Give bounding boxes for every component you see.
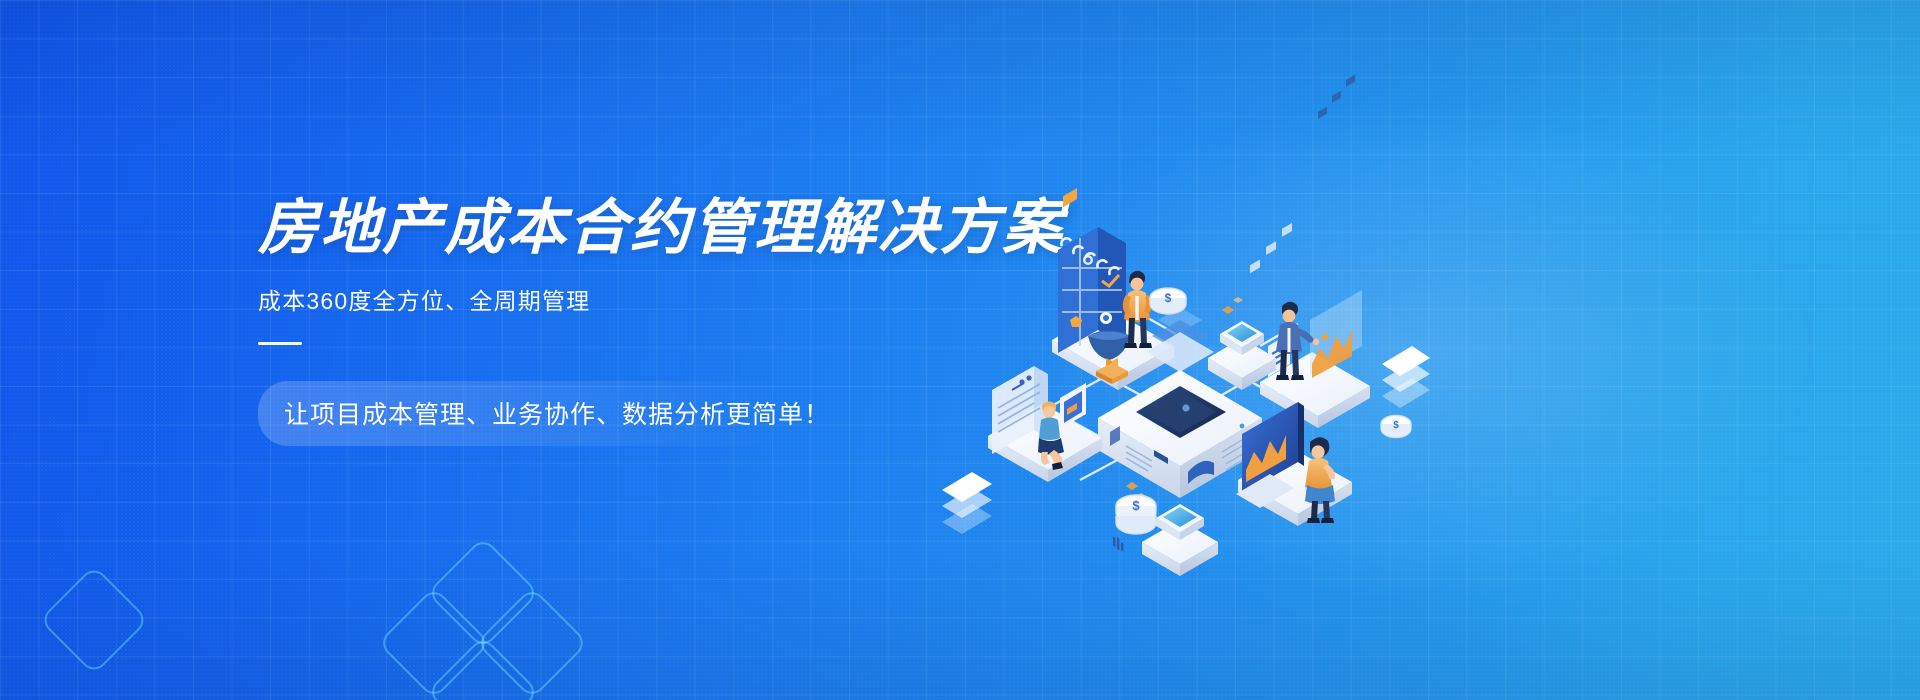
bar-chart-screen-top: [1310, 75, 1362, 378]
calendar-platform-group: [1052, 188, 1174, 390]
page-title: 房地产成本合约管理解决方案: [258, 196, 1018, 260]
coin-stack-dollar-bottom: $: [1116, 495, 1156, 534]
diamond-cluster-right: [475, 586, 588, 699]
suited-man-group: [1260, 75, 1370, 428]
hero-banner: 房地产成本合约管理解决方案 成本360度全方位、全周期管理 让项目成本管理、业务…: [0, 0, 1920, 700]
svg-text:$: $: [1132, 498, 1140, 513]
calendar-board-panel: [1058, 188, 1126, 353]
diamond-left: [39, 565, 149, 675]
page-subtitle: 成本360度全方位、全周期管理: [258, 282, 1018, 316]
stacked-white-layers-left: [942, 472, 992, 534]
coin-stack-dollar-right: $: [1381, 415, 1411, 437]
svg-text:$: $: [1165, 291, 1172, 305]
coin-stack-dollar-top: $: [1150, 288, 1186, 314]
tagline-badge: 让项目成本管理、业务协作、数据分析更简单！: [258, 381, 860, 446]
hero-copy: 房地产成本合约管理解决方案 成本360度全方位、全周期管理 让项目成本管理、业务…: [258, 196, 1018, 446]
diamond-cluster-left: [377, 586, 490, 699]
title-divider: [258, 342, 302, 345]
svg-text:$: $: [1393, 420, 1399, 431]
isometric-illustration: $ $ $: [930, 150, 1430, 580]
stacked-white-layers-right: [1382, 346, 1430, 408]
diamond-cluster-top: [426, 536, 539, 649]
diamond-cluster-bottom: [426, 635, 539, 700]
sitting-woman-platform-group: [988, 366, 1102, 482]
